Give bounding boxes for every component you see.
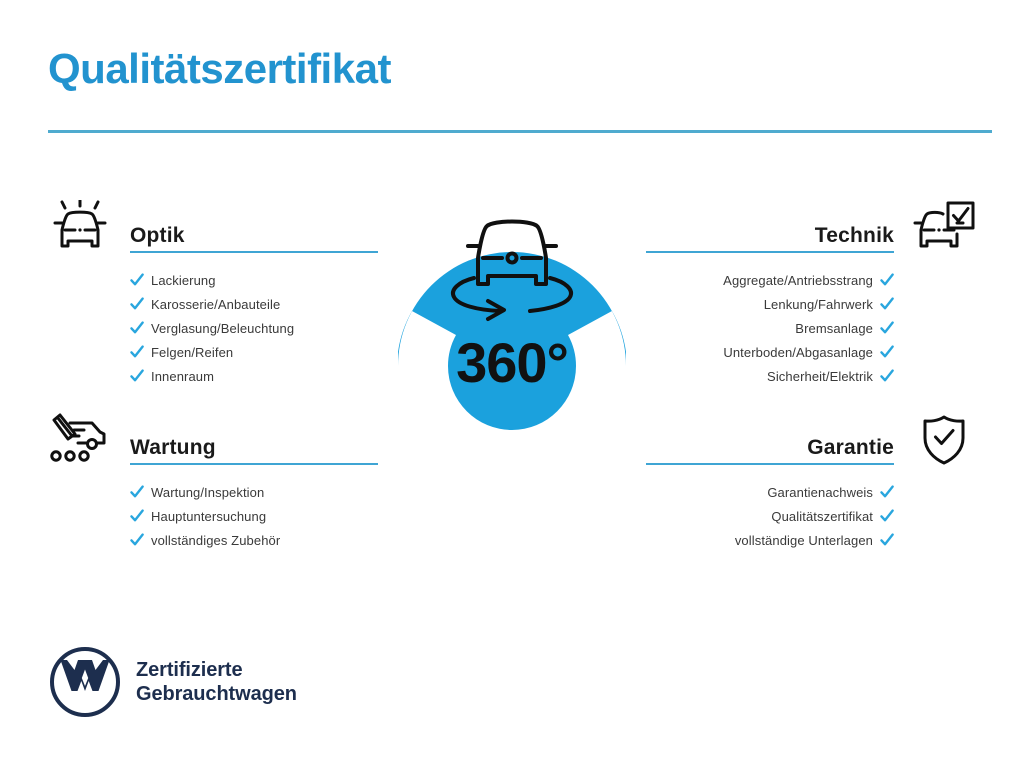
list-item-label: Bremsanlage [795, 321, 873, 336]
list-item-label: Garantienachweis [767, 485, 873, 500]
list-item-label: Unterboden/Abgasanlage [723, 345, 873, 360]
badge-360-gebrauchtwagen-check: Gebrauchtwagen-Check 360° [374, 196, 650, 496]
section-optik: Optik Lackierung Karosserie/Anbauteile V… [48, 200, 428, 388]
list-item-label: Wartung/Inspektion [151, 485, 264, 500]
section-garantie-list: Garantienachweis Qualitätszertifikat vol… [596, 474, 976, 552]
section-optik-list: Lackierung Karosserie/Anbauteile Verglas… [48, 262, 428, 388]
shield-check-icon [912, 412, 976, 468]
list-item-label: Lenkung/Fahrwerk [764, 297, 873, 312]
section-wartung-title: Wartung [130, 437, 216, 458]
check-icon [880, 533, 894, 547]
list-item-label: Verglasung/Beleuchtung [151, 321, 294, 336]
section-technik: Technik Aggregate/Antriebsstrang Lenkung… [596, 200, 976, 388]
list-item: Aggregate/Antriebsstrang [596, 268, 976, 292]
check-icon [130, 369, 144, 383]
list-item: Innenraum [48, 364, 428, 388]
list-item: Verglasung/Beleuchtung [48, 316, 428, 340]
check-icon [130, 509, 144, 523]
check-icon [880, 369, 894, 383]
vw-logo-line2: Gebrauchtwagen [136, 682, 297, 706]
list-item: vollständiges Zubehör [48, 528, 428, 552]
section-optik-rule [130, 251, 378, 253]
list-item-label: Sicherheit/Elektrik [767, 369, 873, 384]
section-technik-header: Technik [596, 200, 976, 262]
list-item: Lackierung [48, 268, 428, 292]
section-wartung-header: Wartung [48, 412, 428, 474]
car-service-dipstick-icon [48, 412, 112, 468]
check-icon [130, 485, 144, 499]
list-item-label: Qualitätszertifikat [771, 509, 873, 524]
list-item-label: Aggregate/Antriebsstrang [723, 273, 873, 288]
section-garantie-title: Garantie [807, 437, 894, 458]
check-icon [130, 345, 144, 359]
check-icon [880, 485, 894, 499]
list-item-label: Innenraum [151, 369, 214, 384]
list-item: Unterboden/Abgasanlage [596, 340, 976, 364]
vw-certified-used-cars-logo: Zertifizierte Gebrauchtwagen [48, 645, 297, 719]
list-item: Lenkung/Fahrwerk [596, 292, 976, 316]
vw-logo-wordmark: Zertifizierte Gebrauchtwagen [136, 658, 297, 707]
check-icon [880, 345, 894, 359]
list-item: Karosserie/Anbauteile [48, 292, 428, 316]
vw-logo-line1: Zertifizierte [136, 658, 297, 682]
check-icon [880, 297, 894, 311]
check-icon [880, 509, 894, 523]
car-front-checkbox-icon [912, 200, 976, 256]
section-garantie: Garantie Garantienachweis Qualitätszerti… [596, 412, 976, 552]
list-item: Felgen/Reifen [48, 340, 428, 364]
section-technik-rule [646, 251, 894, 253]
section-wartung: Wartung Wartung/Inspektion Hauptuntersuc… [48, 412, 428, 552]
list-item-label: Karosserie/Anbauteile [151, 297, 280, 312]
section-optik-header: Optik [48, 200, 428, 262]
section-optik-title: Optik [130, 225, 185, 246]
list-item-label: vollständige Unterlagen [735, 533, 873, 548]
check-icon [130, 321, 144, 335]
list-item-label: vollständiges Zubehör [151, 533, 280, 548]
section-wartung-list: Wartung/Inspektion Hauptuntersuchung vol… [48, 474, 428, 552]
vw-logo-icon [48, 645, 122, 719]
list-item: Sicherheit/Elektrik [596, 364, 976, 388]
list-item-label: Lackierung [151, 273, 216, 288]
section-garantie-rule [646, 463, 894, 465]
check-icon [880, 273, 894, 287]
list-item: Bremsanlage [596, 316, 976, 340]
list-item: Wartung/Inspektion [48, 480, 428, 504]
list-item-label: Hauptuntersuchung [151, 509, 266, 524]
list-item: Qualitätszertifikat [596, 504, 976, 528]
check-icon [130, 273, 144, 287]
badge-center-label: 360° [456, 331, 568, 394]
section-wartung-rule [130, 463, 378, 465]
check-icon [880, 321, 894, 335]
car-front-shine-icon [48, 200, 112, 256]
check-icon [130, 297, 144, 311]
title-divider [48, 130, 992, 133]
check-icon [130, 533, 144, 547]
section-technik-list: Aggregate/Antriebsstrang Lenkung/Fahrwer… [596, 262, 976, 388]
list-item: Hauptuntersuchung [48, 504, 428, 528]
section-technik-title: Technik [815, 225, 894, 246]
list-item-label: Felgen/Reifen [151, 345, 233, 360]
section-garantie-header: Garantie [596, 412, 976, 474]
list-item: Garantienachweis [596, 480, 976, 504]
quality-certificate-page: { "header": { "title": "Qualitätszertifi… [0, 0, 1024, 768]
page-title: Qualitätszertifikat [48, 48, 391, 90]
list-item: vollständige Unterlagen [596, 528, 976, 552]
